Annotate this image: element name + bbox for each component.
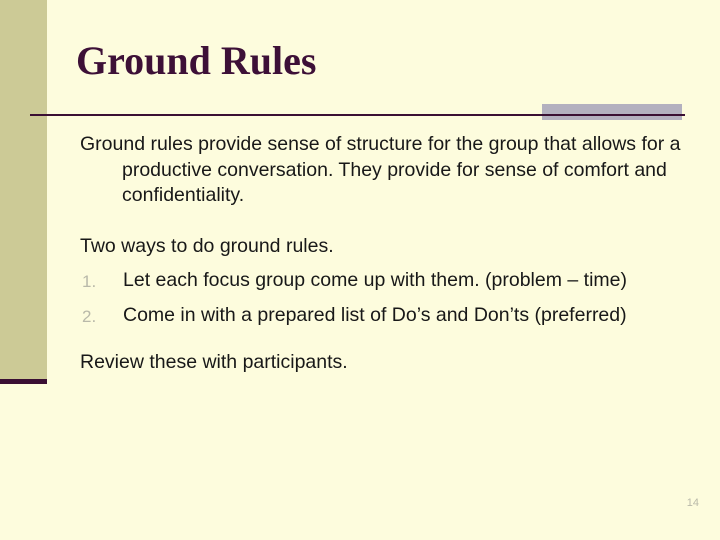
title-accent-block [542, 104, 682, 120]
list-item: 2. Come in with a prepared list of Do’s … [80, 303, 690, 329]
body-lead-in: Two ways to do ground rules. [80, 234, 690, 260]
page-number: 14 [687, 497, 699, 509]
title-divider-rule [30, 114, 685, 116]
spacer [80, 328, 690, 350]
spacer [80, 259, 690, 268]
numbered-list: 1. Let each focus group come up with the… [80, 268, 690, 328]
body-paragraph-intro: Ground rules provide sense of structure … [80, 132, 690, 209]
sidebar-decoration-band [0, 0, 47, 379]
sidebar-decoration-foot [0, 379, 47, 384]
slide: Ground Rules Ground rules provide sense … [0, 0, 720, 540]
slide-body: Ground rules provide sense of structure … [80, 132, 690, 376]
page-title: Ground Rules [76, 37, 676, 85]
list-item: 1. Let each focus group come up with the… [80, 268, 690, 294]
body-closing-line: Review these with participants. [80, 350, 690, 376]
list-item-marker: 1. [82, 269, 112, 295]
spacer [80, 209, 690, 234]
list-item-marker: 2. [82, 304, 112, 330]
list-item-label: Let each focus group come up with them. … [123, 268, 690, 294]
list-item-label: Come in with a prepared list of Do’s and… [123, 303, 690, 329]
